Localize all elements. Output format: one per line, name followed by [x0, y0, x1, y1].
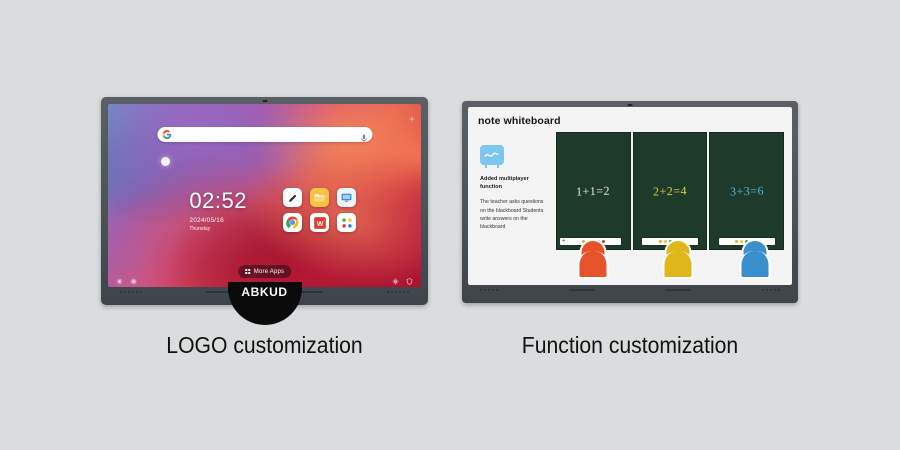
- volume-up-icon[interactable]: [130, 272, 137, 279]
- search-bar[interactable]: [157, 127, 372, 142]
- speaker-grille-icon: [120, 291, 142, 293]
- blackboard-panel[interactable]: 1+1=2 +: [556, 132, 631, 250]
- camera-icon: [628, 104, 633, 106]
- equation-text: 3+3=6: [729, 183, 763, 199]
- clock-time: 02:52: [189, 190, 247, 212]
- speaker-grille-icon: [387, 291, 409, 293]
- more-apps-button[interactable]: More Apps: [238, 265, 291, 278]
- note-whiteboard-app: note whiteboard Added multiplayer functi…: [468, 107, 792, 285]
- clock-widget: 02:52 2024/05/16 Thursday: [189, 190, 247, 232]
- whiteboard-title: note whiteboard: [478, 115, 561, 127]
- blackboard-panel[interactable]: 2+2=4: [633, 132, 708, 250]
- clock-weekday: Thursday: [189, 226, 247, 232]
- equation-text: 1+1=2: [576, 183, 610, 199]
- google-g-icon: [162, 130, 171, 139]
- participants-group: [556, 237, 784, 279]
- whiteboard-feature-panel: Added multiplayer function The teacher a…: [480, 145, 548, 231]
- clock-date: 2024/05/16: [189, 217, 247, 224]
- blackboard-panel[interactable]: 3+3=6: [709, 132, 784, 250]
- slide-canvas: 02:52 2024/05/16 Thursday: [0, 0, 900, 450]
- caption-logo-customization: LOGO customization: [114, 332, 415, 359]
- screen-right: note whiteboard Added multiplayer functi…: [468, 107, 792, 285]
- microphone-icon[interactable]: [360, 130, 367, 139]
- io-port: [665, 289, 691, 291]
- interactive-flat-panel-left: 02:52 2024/05/16 Thursday: [101, 97, 428, 305]
- caption-function-customization: Function customization: [475, 332, 784, 359]
- equation-text: 2+2=4: [653, 183, 687, 199]
- participant-avatar: [574, 239, 612, 279]
- brand-logo-badge: ABKUD: [228, 282, 302, 325]
- svg-text:W: W: [316, 221, 323, 228]
- camera-icon: [262, 100, 267, 102]
- grid-icon: [245, 269, 250, 274]
- feature-heading: Added multiplayer function: [480, 175, 548, 191]
- participant-avatar: [659, 239, 697, 279]
- app-icon-note[interactable]: [283, 188, 302, 207]
- app-icon-files[interactable]: [310, 188, 329, 207]
- screen-left: 02:52 2024/05/16 Thursday: [108, 104, 421, 287]
- feature-body: The teacher asks questions on the blackb…: [480, 198, 548, 231]
- io-port: [569, 289, 595, 291]
- settings-gear-icon[interactable]: [392, 272, 399, 279]
- tray-right: [392, 272, 413, 279]
- app-shortcut-grid: W: [283, 188, 356, 232]
- whiteboard-icon: [480, 145, 504, 165]
- app-icon-all-apps[interactable]: [337, 213, 356, 232]
- speaker-grille-icon: [762, 289, 780, 291]
- speaker-grille-icon: [480, 289, 498, 291]
- app-icon-wps-office[interactable]: W: [310, 213, 329, 232]
- panel-logo-customization: 02:52 2024/05/16 Thursday: [101, 97, 428, 305]
- interactive-flat-panel-right: note whiteboard Added multiplayer functi…: [462, 101, 798, 303]
- brand-logo-label: ABKUD: [241, 285, 287, 299]
- bottom-bezel-right: [468, 285, 792, 294]
- app-icon-chrome[interactable]: [283, 213, 302, 232]
- blackboard-group: 1+1=2 + 2+2=4: [556, 132, 784, 250]
- participant-avatar: [736, 239, 774, 279]
- shield-icon[interactable]: [406, 272, 413, 279]
- wallpaper-dot: [161, 157, 170, 166]
- panel-function-customization: note whiteboard Added multiplayer functi…: [462, 101, 798, 303]
- status-glyph-icon: [409, 109, 415, 115]
- home-wallpaper: 02:52 2024/05/16 Thursday: [108, 104, 421, 287]
- more-apps-label: More Apps: [254, 269, 284, 275]
- app-icon-screen-share[interactable]: [337, 188, 356, 207]
- volume-down-icon[interactable]: [116, 272, 123, 279]
- tray-left: [116, 272, 137, 279]
